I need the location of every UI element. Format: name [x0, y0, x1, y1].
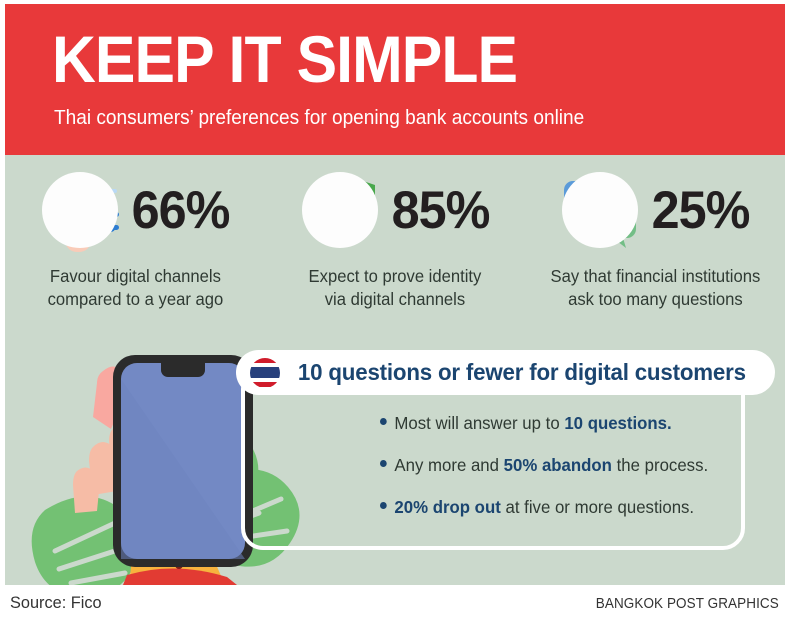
footer: Source: Fico BANGKOK POST GRAPHICS — [0, 585, 790, 621]
list-item: Most will answer up to 10 questions. — [380, 413, 726, 434]
bullet-text-emphasis: 10 questions. — [564, 413, 671, 433]
bullet-text: Most will answer up to 10 questions. — [394, 413, 671, 434]
stat-card-favour-digital: 66% Favour digital channels compared to … — [5, 164, 265, 334]
thai-flag-icon — [250, 358, 280, 388]
bullet-text-pre: Any more and — [394, 455, 503, 475]
bullet-text: 20% drop out at five or more questions. — [394, 497, 694, 518]
question-chat-bubbles-icon: ? — [557, 167, 643, 253]
list-item: 20% drop out at five or more questions. — [380, 497, 726, 518]
stat-card-too-many-questions: ? 25% Say that financial institutions as… — [525, 164, 785, 334]
fingerprint-shield-icon — [297, 167, 383, 253]
body-panel: 66% Favour digital channels compared to … — [5, 155, 785, 585]
smartphone-graphic — [113, 355, 253, 567]
flag-stripe-red-bottom — [250, 382, 280, 387]
callout-bullet-list: Most will answer up to 10 questions. Any… — [380, 413, 740, 539]
stat-value: 85% — [392, 184, 490, 237]
page-subtitle: Thai consumers’ preferences for opening … — [54, 108, 584, 129]
icon-background-disc — [302, 172, 378, 248]
bullet-text-pre: Most will answer up to — [394, 413, 564, 433]
stat-value: 66% — [132, 184, 230, 237]
header-banner: KEEP IT SIMPLE Thai consumers’ preferenc… — [5, 4, 785, 155]
callout-header-pill: 10 questions or fewer for digital custom… — [236, 350, 775, 395]
icon-background-disc — [42, 172, 118, 248]
hand-touch-icon — [37, 167, 123, 253]
stat-value: 25% — [652, 184, 750, 237]
source-label: Source: Fico — [10, 593, 102, 613]
callout-card: 10 questions or fewer for digital custom… — [241, 350, 747, 552]
publisher-credit: BANGKOK POST GRAPHICS — [596, 596, 779, 612]
bullet-text-post: at five or more questions. — [501, 497, 694, 517]
bullet-text: Any more and 50% abandon the process. — [394, 455, 708, 476]
infographic-root: KEEP IT SIMPLE Thai consumers’ preferenc… — [0, 0, 790, 621]
list-item: Any more and 50% abandon the process. — [380, 455, 726, 476]
stat-top-row: ? 25% — [557, 164, 752, 256]
stats-row: 66% Favour digital channels compared to … — [5, 164, 785, 334]
bullet-text-emphasis: 50% abandon — [504, 455, 612, 475]
stat-caption: Expect to prove identity via digital cha… — [309, 265, 482, 311]
page-title: KEEP IT SIMPLE — [52, 26, 517, 92]
stat-top-row: 66% — [37, 164, 232, 256]
icon-background-disc — [562, 172, 638, 248]
stat-card-prove-identity: 85% Expect to prove identity via digital… — [265, 164, 525, 334]
stat-top-row: 85% — [297, 164, 492, 256]
flag-stripe-blue — [250, 367, 280, 377]
callout-title: 10 questions or fewer for digital custom… — [298, 359, 746, 386]
stat-caption: Say that financial institutions ask too … — [550, 265, 760, 311]
stat-caption: Favour digital channels compared to a ye… — [47, 265, 223, 311]
bullet-text-emphasis: 20% drop out — [394, 497, 500, 517]
bullet-dot-icon — [380, 418, 387, 425]
bullet-dot-icon — [380, 460, 387, 467]
bullet-text-post: the process. — [612, 455, 708, 475]
bullet-dot-icon — [380, 502, 387, 509]
